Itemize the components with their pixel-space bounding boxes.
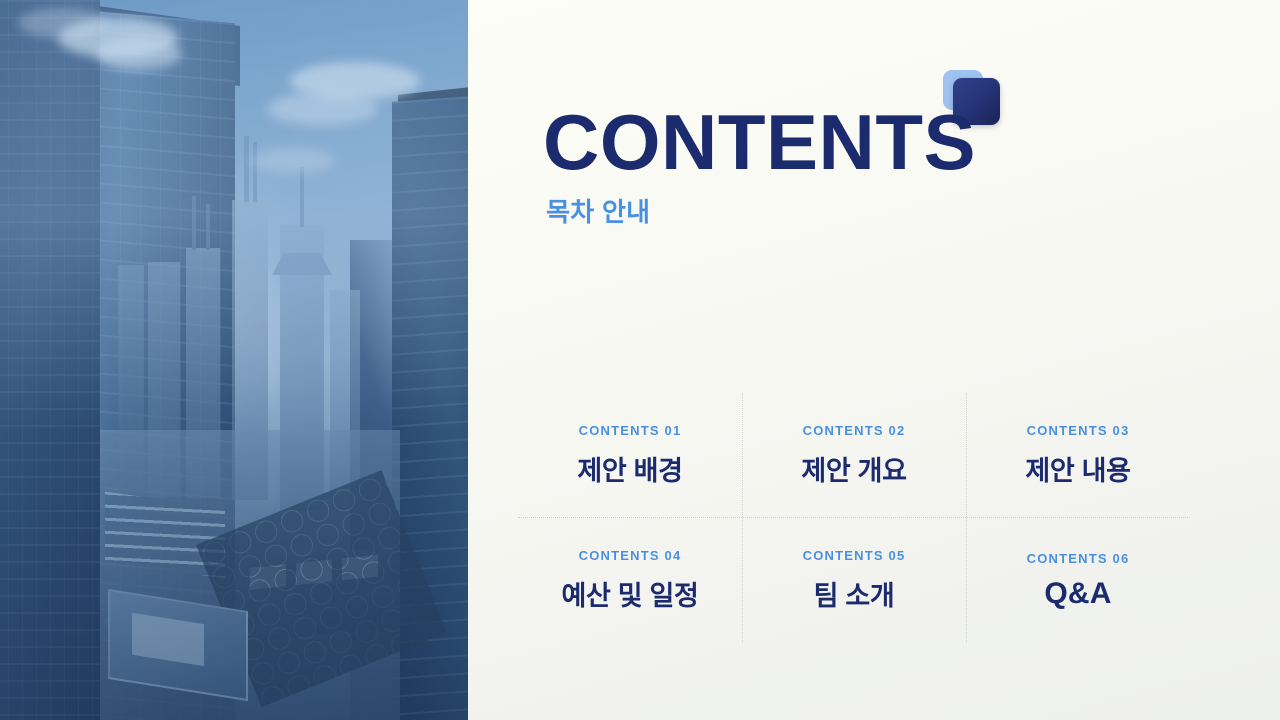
blue-tint-overlay bbox=[0, 0, 468, 720]
contents-item-kicker: CONTENTS 04 bbox=[579, 548, 682, 563]
contents-item-title: 제안 개요 bbox=[801, 449, 906, 488]
contents-item-title: 제안 내용 bbox=[1025, 449, 1130, 488]
contents-item-kicker: CONTENTS 01 bbox=[579, 423, 682, 438]
contents-item-kicker: CONTENTS 06 bbox=[1027, 551, 1130, 566]
contents-item-title: Q&A bbox=[1044, 577, 1111, 611]
contents-item-kicker: CONTENTS 05 bbox=[803, 548, 906, 563]
contents-item-title: 팀 소개 bbox=[814, 574, 895, 613]
cityscape-photo-left bbox=[0, 0, 468, 720]
contents-item-06[interactable]: CONTENTS 06 Q&A bbox=[966, 518, 1190, 643]
contents-item-title: 예산 및 일정 bbox=[561, 574, 698, 613]
page-title: CONTENTS bbox=[543, 103, 976, 181]
contents-item-title: 제안 배경 bbox=[577, 449, 682, 488]
contents-item-kicker: CONTENTS 03 bbox=[1027, 423, 1130, 438]
contents-item-03[interactable]: CONTENTS 03 제안 내용 bbox=[966, 393, 1190, 518]
contents-item-kicker: CONTENTS 02 bbox=[803, 423, 906, 438]
contents-item-01[interactable]: CONTENTS 01 제안 배경 bbox=[518, 393, 742, 518]
contents-item-02[interactable]: CONTENTS 02 제안 개요 bbox=[742, 393, 966, 518]
contents-item-04[interactable]: CONTENTS 04 예산 및 일정 bbox=[518, 518, 742, 643]
contents-grid: CONTENTS 01 제안 배경 CONTENTS 02 제안 개요 CONT… bbox=[518, 393, 1190, 643]
slide-contents: CONTENTS 목차 안내 CONTENTS 01 제안 배경 CONTENT… bbox=[0, 0, 1280, 720]
content-panel: CONTENTS 목차 안내 CONTENTS 01 제안 배경 CONTENT… bbox=[468, 0, 1280, 720]
page-subtitle: 목차 안내 bbox=[546, 192, 650, 229]
contents-item-05[interactable]: CONTENTS 05 팀 소개 bbox=[742, 518, 966, 643]
